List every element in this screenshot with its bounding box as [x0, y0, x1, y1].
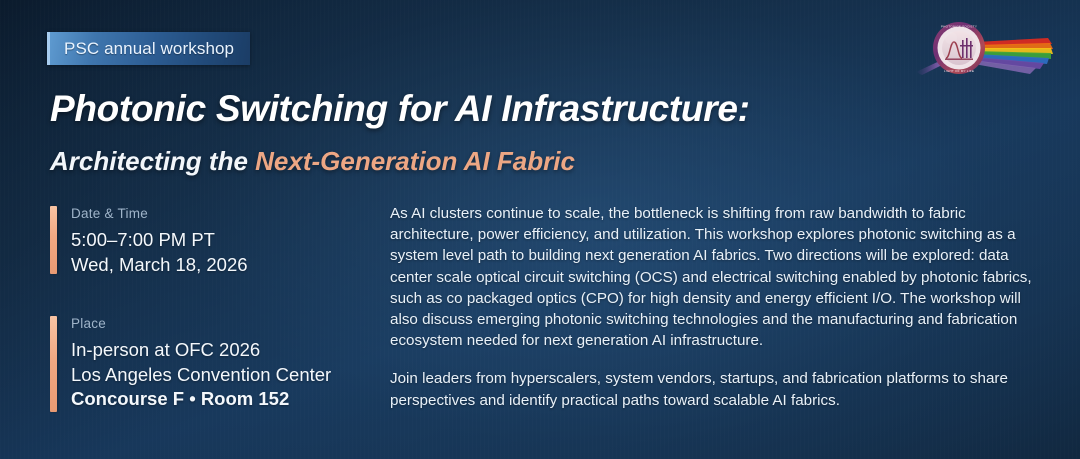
- page-subtitle-prefix: Architecting the: [50, 146, 255, 176]
- info-label-datetime: Date & Time: [71, 206, 248, 221]
- eyebrow-badge-label: PSC annual workshop: [64, 39, 234, 59]
- datetime-date-line: Wed, March 18, 2026: [71, 253, 248, 278]
- datetime-time-line: 5:00–7:00 PM PT: [71, 228, 248, 253]
- info-block-place: Place In-person at OFC 2026 Los Angeles …: [50, 316, 331, 412]
- place-venue-line: In-person at OFC 2026: [71, 338, 331, 363]
- workshop-poster: PSC annual workshop Photonic Switching f…: [0, 0, 1080, 459]
- svg-text:PHOTONICS SOCIETY: PHOTONICS SOCIETY: [941, 24, 977, 28]
- page-title: Photonic Switching for AI Infrastructure…: [50, 88, 750, 130]
- photonics-society-seal-logo: PHOTONICS SOCIETY LIGHT OF MY LIFE: [916, 14, 1066, 94]
- place-room-line: Concourse F • Room 152: [71, 387, 331, 412]
- page-subtitle: Architecting the Next-Generation AI Fabr…: [50, 146, 575, 177]
- description-column: As AI clusters continue to scale, the bo…: [390, 203, 1040, 411]
- info-block-datetime: Date & Time 5:00–7:00 PM PT Wed, March 1…: [50, 206, 248, 277]
- page-subtitle-accent: Next-Generation AI Fabric: [255, 146, 575, 176]
- info-body-place: Place In-person at OFC 2026 Los Angeles …: [71, 316, 331, 412]
- eyebrow-badge: PSC annual workshop: [47, 32, 250, 65]
- description-paragraph-1: As AI clusters continue to scale, the bo…: [390, 203, 1040, 351]
- description-paragraph-2: Join leaders from hyperscalers, system v…: [390, 368, 1040, 410]
- info-body-datetime: Date & Time 5:00–7:00 PM PT Wed, March 1…: [71, 206, 248, 277]
- accent-bar-place: [50, 316, 57, 412]
- svg-text:LIGHT OF MY LIFE: LIGHT OF MY LIFE: [944, 69, 974, 73]
- place-center-line: Los Angeles Convention Center: [71, 363, 331, 388]
- accent-bar-datetime: [50, 206, 57, 274]
- info-label-place: Place: [71, 316, 331, 331]
